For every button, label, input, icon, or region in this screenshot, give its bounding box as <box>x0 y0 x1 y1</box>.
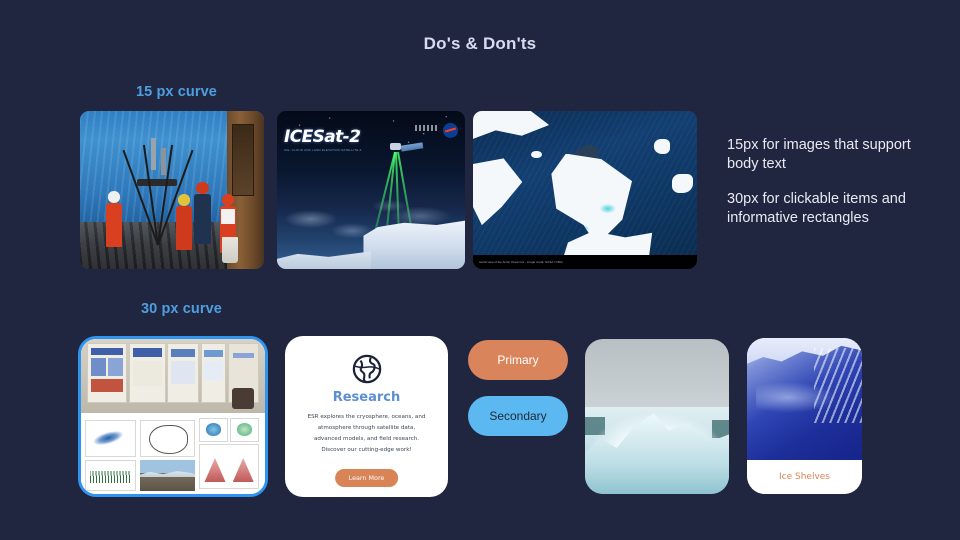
crew-member <box>194 181 211 244</box>
card-research[interactable]: Research ESR explores the cryosphere, oc… <box>285 336 448 497</box>
ice-shelf-photo <box>747 338 862 460</box>
poster-board <box>201 343 227 403</box>
figure-time-series <box>85 460 137 491</box>
poster-board <box>87 343 127 403</box>
iceberg <box>654 139 670 153</box>
section-label-15px: 15 px curve <box>136 84 217 100</box>
image-aerial-icebergs: Aerial view of the Arctic Ocean ice - im… <box>473 111 697 269</box>
image-poster-session-figures <box>78 336 268 497</box>
poster-board <box>167 343 198 403</box>
figure-line-chart <box>199 444 260 489</box>
guidance-paragraph-2: 30px for clickable items and informative… <box>727 190 927 228</box>
poster-board <box>129 343 166 403</box>
guidance-text: 15px for images that support body text 3… <box>727 136 927 229</box>
learn-more-button[interactable]: Learn More <box>335 469 399 487</box>
poster-session-photo <box>81 339 265 413</box>
iceberg <box>672 174 692 193</box>
page-title: Do's & Don'ts <box>0 34 960 54</box>
scientific-figures-grid <box>81 413 265 494</box>
primary-button[interactable]: Primary <box>468 340 568 380</box>
research-card-body: ESR explores the cryosphere, oceans, and… <box>295 412 438 456</box>
ice-shelves-label: Ice Shelves <box>747 460 862 494</box>
crew-member <box>176 193 193 250</box>
section-label-30px: 30 px curve <box>141 301 222 317</box>
slide-canvas: Do's & Don'ts 15 px curve ICESat-2 ICE, … <box>0 0 960 540</box>
secondary-button[interactable]: Secondary <box>468 396 568 436</box>
figure-antarctica-map <box>140 420 195 457</box>
crew-member <box>106 190 123 247</box>
image-sea-ice-wave <box>585 339 729 494</box>
guidance-paragraph-1: 15px for images that support body text <box>727 136 927 174</box>
image-research-vessel-deck <box>80 111 264 269</box>
deck-bucket <box>222 237 239 262</box>
image-icesat2-illustration: ICESat-2 ICE, CLOUD AND LAND ELEVATION S… <box>277 111 465 269</box>
research-card-title: Research <box>295 390 438 405</box>
figure-scatter-plot <box>85 420 137 457</box>
figure-polar-plot <box>230 418 259 442</box>
card-ice-shelves[interactable]: Ice Shelves <box>747 338 862 494</box>
figure-field-photo <box>140 460 195 491</box>
ice-highlight <box>756 382 837 414</box>
image-caption: Aerial view of the Arctic Ocean ice - im… <box>473 255 697 269</box>
figure-polar-plot <box>199 418 228 442</box>
globe-icon <box>352 354 382 384</box>
chair <box>232 388 254 409</box>
